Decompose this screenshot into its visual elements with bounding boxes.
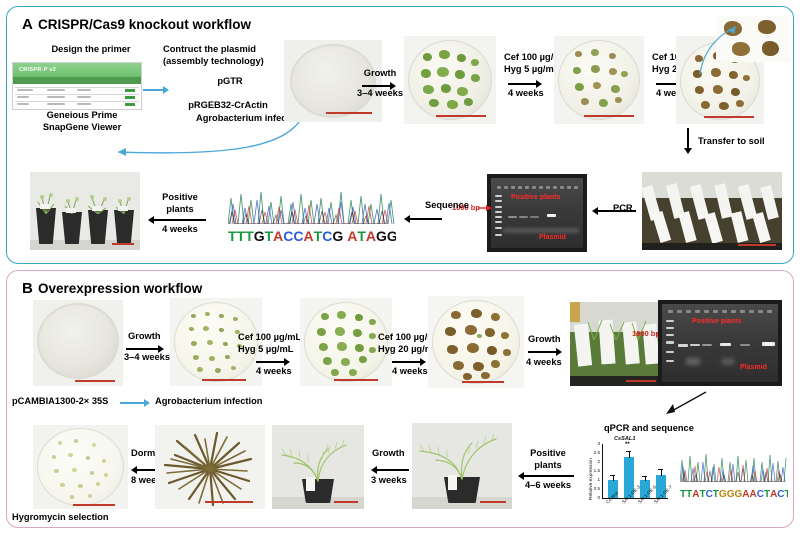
scale-bar — [584, 115, 634, 117]
agro-infection-label-b: Agrobacterium infection — [155, 396, 262, 408]
gel-label-plasmid-b: Plasmid — [740, 364, 767, 371]
gel-lanes-area — [491, 178, 583, 248]
arrow-growth2-b — [528, 348, 562, 356]
construct-plasmid-label: Contruct the plasmid (assembly technolog… — [163, 44, 303, 67]
growth-time-a: 3–4 weeks — [350, 88, 410, 100]
arrow-selection1-a — [508, 80, 542, 88]
arrow-growth3 — [371, 466, 409, 474]
browser-cell — [17, 89, 33, 91]
arrow-pcr-a — [592, 207, 636, 215]
browser-cell — [77, 89, 91, 91]
growth2-time-b: 4 weeks — [526, 357, 562, 369]
photo-seedling-tray-a — [642, 172, 782, 250]
photo-dormant-shoots — [155, 425, 265, 509]
growth3-label: Growth — [372, 448, 405, 460]
growth-time-b: 3–4 weeks — [124, 352, 170, 364]
positive-plants-time-a: 4 weeks — [150, 224, 210, 236]
growth-label-a: Growth — [352, 68, 408, 80]
scale-bar — [436, 115, 486, 117]
chart-ytick: 2 — [586, 459, 600, 464]
marker-arrow-a — [478, 203, 494, 213]
chromatogram-a: TTTGTACCATCGATAGGAT — [228, 182, 396, 244]
petri-dish-hygromycin — [37, 428, 124, 506]
growth2-label-b: Growth — [528, 334, 561, 346]
selection2-time-b: 4 weeks — [392, 366, 428, 378]
photo-empty-dish-b — [33, 300, 123, 386]
arrow-primer-to-plasmid — [143, 86, 169, 94]
scale-bar — [704, 116, 754, 118]
gel-label-positive-plants-b: Positive plants — [692, 318, 741, 325]
figure-root: A CRISPR/Cas9 knockout workflow Design t… — [0, 0, 800, 534]
gel-image-b: Positive plants Plasmid — [658, 300, 782, 386]
photo-plantlet-1 — [272, 425, 364, 509]
browser-cell — [17, 103, 29, 105]
petri-dish-green-calli-b — [304, 302, 388, 382]
petri-dish-empty-b — [37, 303, 119, 379]
photo-hygromycin-dish — [33, 425, 128, 509]
scale-bar — [334, 501, 358, 503]
chart-ytick: 1.5 — [586, 468, 600, 473]
arrow-transfer-soil — [684, 128, 692, 154]
crispr-p-logo: CRISPR-P v2 — [19, 67, 56, 73]
selection1-time-b: 4 weeks — [256, 366, 292, 378]
chart-ytick: 3 — [586, 441, 600, 446]
arrow-to-qpcr — [662, 390, 712, 416]
browser-cell — [47, 89, 65, 91]
photo-plantlet-2 — [412, 423, 512, 509]
chart-ytick: 0.5 — [586, 486, 600, 491]
scale-bar — [334, 379, 378, 381]
qpcr-bar-chart: Relative expression CsSAL1 3 2.5 2 1.5 1… — [586, 438, 672, 520]
transfer-to-soil-label: Transfer to soil — [698, 136, 765, 148]
scale-bar — [326, 112, 372, 114]
design-primer-label: Design the primer — [26, 44, 156, 56]
growth3-time: 3 weeks — [371, 475, 407, 487]
gel-label-plasmid-a: Plasmid — [539, 234, 566, 241]
chart-ytick: 2.5 — [586, 450, 600, 455]
arrow-positive-plants-b — [518, 472, 574, 480]
scale-bar — [73, 504, 115, 506]
arrow-selection1-b — [256, 358, 290, 366]
plasmid-pgtr-label: pGTR — [175, 76, 285, 88]
photo-potted-plants-a — [30, 172, 140, 250]
browser-navbar — [13, 77, 141, 84]
positive-plants-label-a: Positive plants — [150, 192, 210, 215]
petri-dish-green-calli — [408, 40, 492, 120]
panel-b-title: Overexpression workflow — [38, 281, 202, 296]
chart-y-axis — [602, 444, 603, 498]
panel-b-letter: B — [22, 280, 33, 297]
panel-a-title: CRISPR/Cas9 knockout workflow — [38, 17, 251, 32]
selection1-time-a: 4 weeks — [508, 88, 544, 100]
petri-dish-mixed-calli — [558, 40, 640, 120]
gel-marker-1000bp-b: 1000 bp — [632, 329, 660, 338]
chromatogram-sequence-b: TTATCTGGGAACTACTCACACA — [680, 480, 788, 500]
browser-score-bar — [125, 89, 135, 92]
positive-plants-time-b: 4–6 weeks — [514, 480, 582, 492]
qpcr-sequence-label: qPCR and sequence — [604, 423, 694, 435]
browser-cell — [77, 96, 91, 98]
gel-image-a: Positive plants Plasmid — [487, 174, 587, 252]
callout-arrow-calli — [690, 20, 750, 80]
photo-green-calli-a — [404, 36, 496, 124]
chart-ytick: 0 — [586, 495, 600, 500]
sequence-label-a: Sequence — [425, 200, 469, 212]
arrow-selection2-b — [392, 358, 426, 366]
browser-score-bar — [125, 103, 135, 106]
chromatogram-sequence-a: TTTGTACCATCGATAGGAT — [228, 222, 396, 244]
scale-bar — [202, 379, 246, 381]
arrow-positive-plants-a — [148, 216, 206, 224]
arrow-vector-agro-b — [120, 399, 150, 407]
scale-bar — [75, 380, 115, 382]
gel-label-positive-plants-a: Positive plants — [511, 194, 560, 201]
panel-a-letter: A — [22, 16, 33, 33]
arrow-sequence-a — [404, 215, 442, 223]
browser-cell — [17, 96, 29, 98]
crispr-p-screenshot: CRISPR-P v2 — [12, 62, 142, 110]
browser-cell — [47, 96, 65, 98]
chart-ytick: 1 — [586, 477, 600, 482]
photo-mixed-calli-a — [554, 36, 644, 124]
petri-dish-empty — [290, 44, 376, 118]
browser-cell — [77, 103, 91, 105]
scale-bar — [205, 501, 253, 503]
browser-cell — [47, 103, 65, 105]
positive-plants-label-b: Positive plants — [518, 448, 578, 471]
photo-brown-calli-b — [428, 296, 524, 388]
photo-empty-dish-a — [284, 40, 382, 122]
hygromycin-selection-label: Hygromycin selection — [12, 512, 109, 524]
scale-bar — [480, 501, 506, 503]
vector-label-b: pCAMBIA1300-2× 35S — [12, 396, 108, 408]
petri-dish-brown-calli-b — [432, 300, 520, 384]
chart-significance-oe3: ** — [625, 442, 630, 448]
scale-bar — [462, 381, 504, 383]
growth-label-b: Growth — [128, 331, 161, 343]
chromatogram-b: TTATCTGGGAACTACTCACACA — [680, 442, 788, 504]
browser-score-bar — [125, 96, 135, 99]
photo-labeled-plants-b — [570, 302, 662, 386]
